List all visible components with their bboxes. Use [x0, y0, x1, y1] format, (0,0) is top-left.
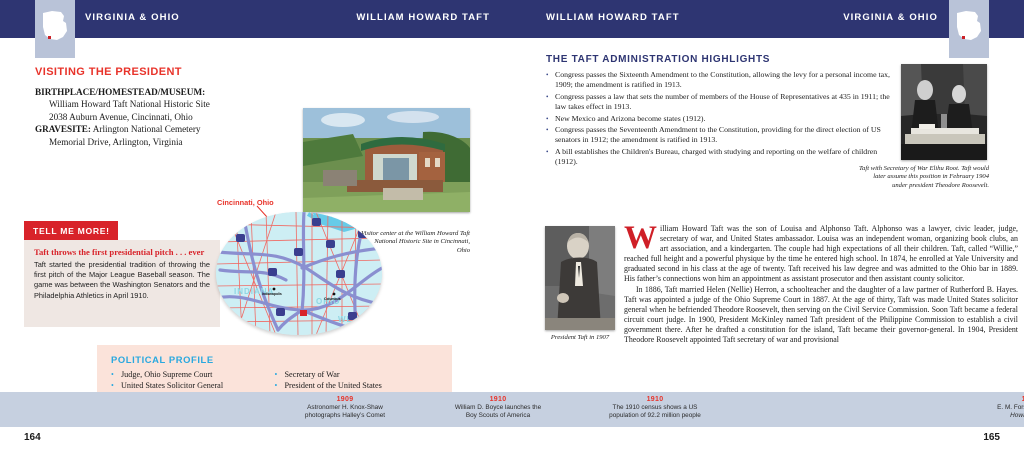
tell-me-more-banner: TELL ME MORE! — [24, 221, 118, 240]
taft-with-elihu-root-photo-art — [901, 64, 987, 160]
timeline-event-description: The 1910 census shows a USpopulation of … — [575, 404, 735, 420]
list-item: New Mexico and Arizona become states (19… — [546, 114, 896, 124]
timeline-event-year: 1909 — [275, 396, 415, 403]
timeline-bar: 1909Astronomer H. Knox-Shawphotographs H… — [0, 392, 1024, 427]
timeline-event: 1910William D. Boyce launches theBoy Sco… — [423, 396, 573, 420]
page-number-left: 164 — [24, 432, 41, 443]
list-item: Secretary of War — [275, 369, 439, 380]
list-item: Congress passes a law that sets the numb… — [546, 92, 896, 113]
regional-highway-map-art: INDIANA OHIO WEST Indianapolis Columbus … — [216, 212, 382, 335]
header-left-region-label: VIRGINIA & OHIO — [85, 12, 180, 23]
regional-highway-map: INDIANA OHIO WEST Indianapolis Columbus … — [216, 212, 382, 335]
timeline-event-description: William D. Boyce launches theBoy Scouts … — [423, 404, 573, 420]
visiting-info-block: BIRTHPLACE/HOMESTEAD/MUSEUM: William How… — [35, 86, 285, 148]
timeline-event-year: 1910 — [575, 396, 735, 403]
political-profile-title: POLITICAL PROFILE — [111, 354, 438, 365]
svg-text:Charleston: Charleston — [359, 330, 377, 334]
administration-highlights-list: Congress passes the Sixteenth Amendment … — [546, 70, 896, 169]
administration-highlights-title: THE TAFT ADMINISTRATION HIGHLIGHTS — [546, 54, 770, 65]
tell-me-more-body: Taft throws the first presidential pitch… — [24, 240, 220, 327]
birthplace-line-2: 2038 Auburn Avenue, Cincinnati, Ohio — [35, 111, 285, 123]
timeline-event-description: E. M. Forster publishesHoward’s End — [965, 404, 1024, 420]
timeline-event: 1910E. M. Forster publishesHoward’s End — [965, 396, 1024, 420]
tell-me-more-headline: Taft throws the first presidential pitch… — [34, 247, 210, 257]
timeline-event-year: 1910 — [965, 396, 1024, 403]
list-item: A bill establishes the Children's Bureau… — [546, 147, 896, 168]
left-page: VISITING THE PRESIDENT BIRTHPLACE/HOMEST… — [0, 38, 512, 390]
header-right-region-label: VIRGINIA & OHIO — [843, 12, 938, 23]
timeline-events: 1909Astronomer H. Knox-Shawphotographs H… — [0, 392, 1024, 427]
right-page-header-bar: WILLIAM HOWARD TAFT VIRGINIA & OHIO — [512, 0, 1024, 38]
right-page: THE TAFT ADMINISTRATION HIGHLIGHTS Congr… — [512, 38, 1024, 390]
timeline-event: 1910The 1910 census shows a USpopulation… — [575, 396, 735, 420]
page-number-right: 165 — [983, 432, 1000, 443]
visiting-the-president-title: VISITING THE PRESIDENT — [35, 66, 182, 78]
list-item: President of the United States — [275, 380, 439, 391]
header-right-president-label: WILLIAM HOWARD TAFT — [546, 12, 680, 23]
birthplace-label: BIRTHPLACE/HOMESTEAD/MUSEUM: — [35, 87, 205, 97]
left-page-header-bar: VIRGINIA & OHIO WILLIAM HOWARD TAFT — [0, 0, 512, 38]
list-item: United States Solicitor General — [111, 380, 275, 391]
taft-with-elihu-root-photo — [901, 64, 987, 160]
visitor-center-photo-art — [303, 108, 470, 212]
tell-me-more-text: Taft started the presidential tradition … — [34, 260, 210, 301]
header-left-president-label: WILLIAM HOWARD TAFT — [356, 12, 490, 23]
list-item: Congress passes the Seventeenth Amendmen… — [546, 125, 896, 146]
biography-paragraph-1-text: illiam Howard Taft was the son of Louisa… — [624, 224, 1018, 283]
dropcap-letter: W — [624, 224, 660, 251]
timeline-event-description: Astronomer H. Knox-Shawphotographs Halle… — [275, 404, 415, 420]
list-item: Congress passes the Sixteenth Amendment … — [546, 70, 896, 91]
svg-text:Indianapolis: Indianapolis — [262, 292, 282, 296]
president-taft-portrait-caption: President Taft in 1907 — [532, 334, 628, 342]
svg-text:Columbus: Columbus — [324, 297, 341, 301]
list-item: Judge, Ohio Supreme Court — [111, 369, 275, 380]
president-taft-portrait-art — [545, 226, 615, 330]
spread-page: VIRGINIA & OHIO WILLIAM HOWARD TAFT WILL… — [0, 0, 1024, 456]
taft-with-elihu-root-caption: Taft with Secretary of War Elihu Root. T… — [859, 165, 989, 190]
president-taft-portrait-photo — [545, 226, 615, 330]
timeline-event-year: 1910 — [423, 396, 573, 403]
gravesite-label: GRAVESITE: — [35, 124, 91, 134]
timeline-event: 1909Astronomer H. Knox-Shawphotographs H… — [275, 396, 415, 420]
visitor-center-photo — [303, 108, 470, 212]
birthplace-line-1: William Howard Taft National Historic Si… — [35, 98, 285, 110]
gravesite-value: Arlington National Cemetery — [93, 124, 201, 134]
tell-me-more-box: TELL ME MORE! Taft throws the first pres… — [24, 221, 220, 327]
gravesite-line-2: Memorial Drive, Arlington, Virginia — [35, 136, 285, 148]
